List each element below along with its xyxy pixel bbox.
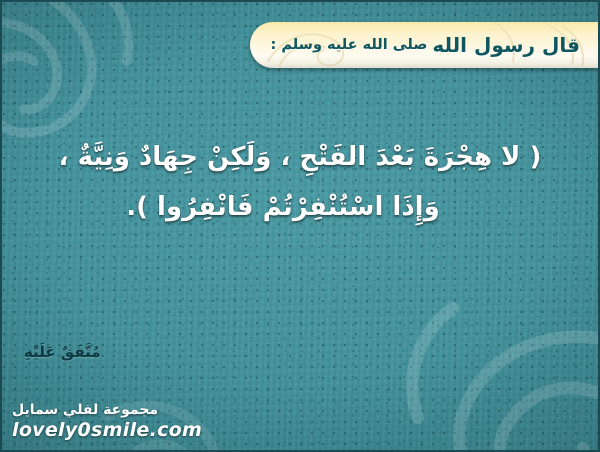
- hadith-line-1: ( لا هِجْرَةَ بَعْدَ الفَتْحِ ، وَلَكِنْ…: [14, 133, 586, 183]
- banner-lead-text: قال رسول الله: [432, 33, 580, 57]
- footer-arabic-credit: مجموعة لفلي سمايل: [12, 402, 202, 420]
- hadith-source-label: مُتَّفَقٌ عَلَيْهِ: [24, 343, 101, 361]
- hadith-line-2: وَإِذَا اسْتُنْفِرْتُمْ فَانْفِرُوا ).: [14, 183, 586, 233]
- hadith-attribution-banner: قال رسول الله صلى الله عليه وسلم :: [250, 22, 598, 68]
- banner-text: قال رسول الله صلى الله عليه وسلم :: [250, 22, 598, 68]
- hadith-image-card: قال رسول الله صلى الله عليه وسلم : ( لا …: [0, 0, 600, 452]
- hadith-text-block: ( لا هِجْرَةَ بَعْدَ الفَتْحِ ، وَلَكِنْ…: [14, 133, 586, 233]
- banner-salat-text: صلى الله عليه وسلم :: [271, 37, 428, 53]
- footer-credit: مجموعة لفلي سمايل lovely0smile.com: [12, 402, 202, 442]
- footer-website-url: lovely0smile.com: [12, 419, 202, 442]
